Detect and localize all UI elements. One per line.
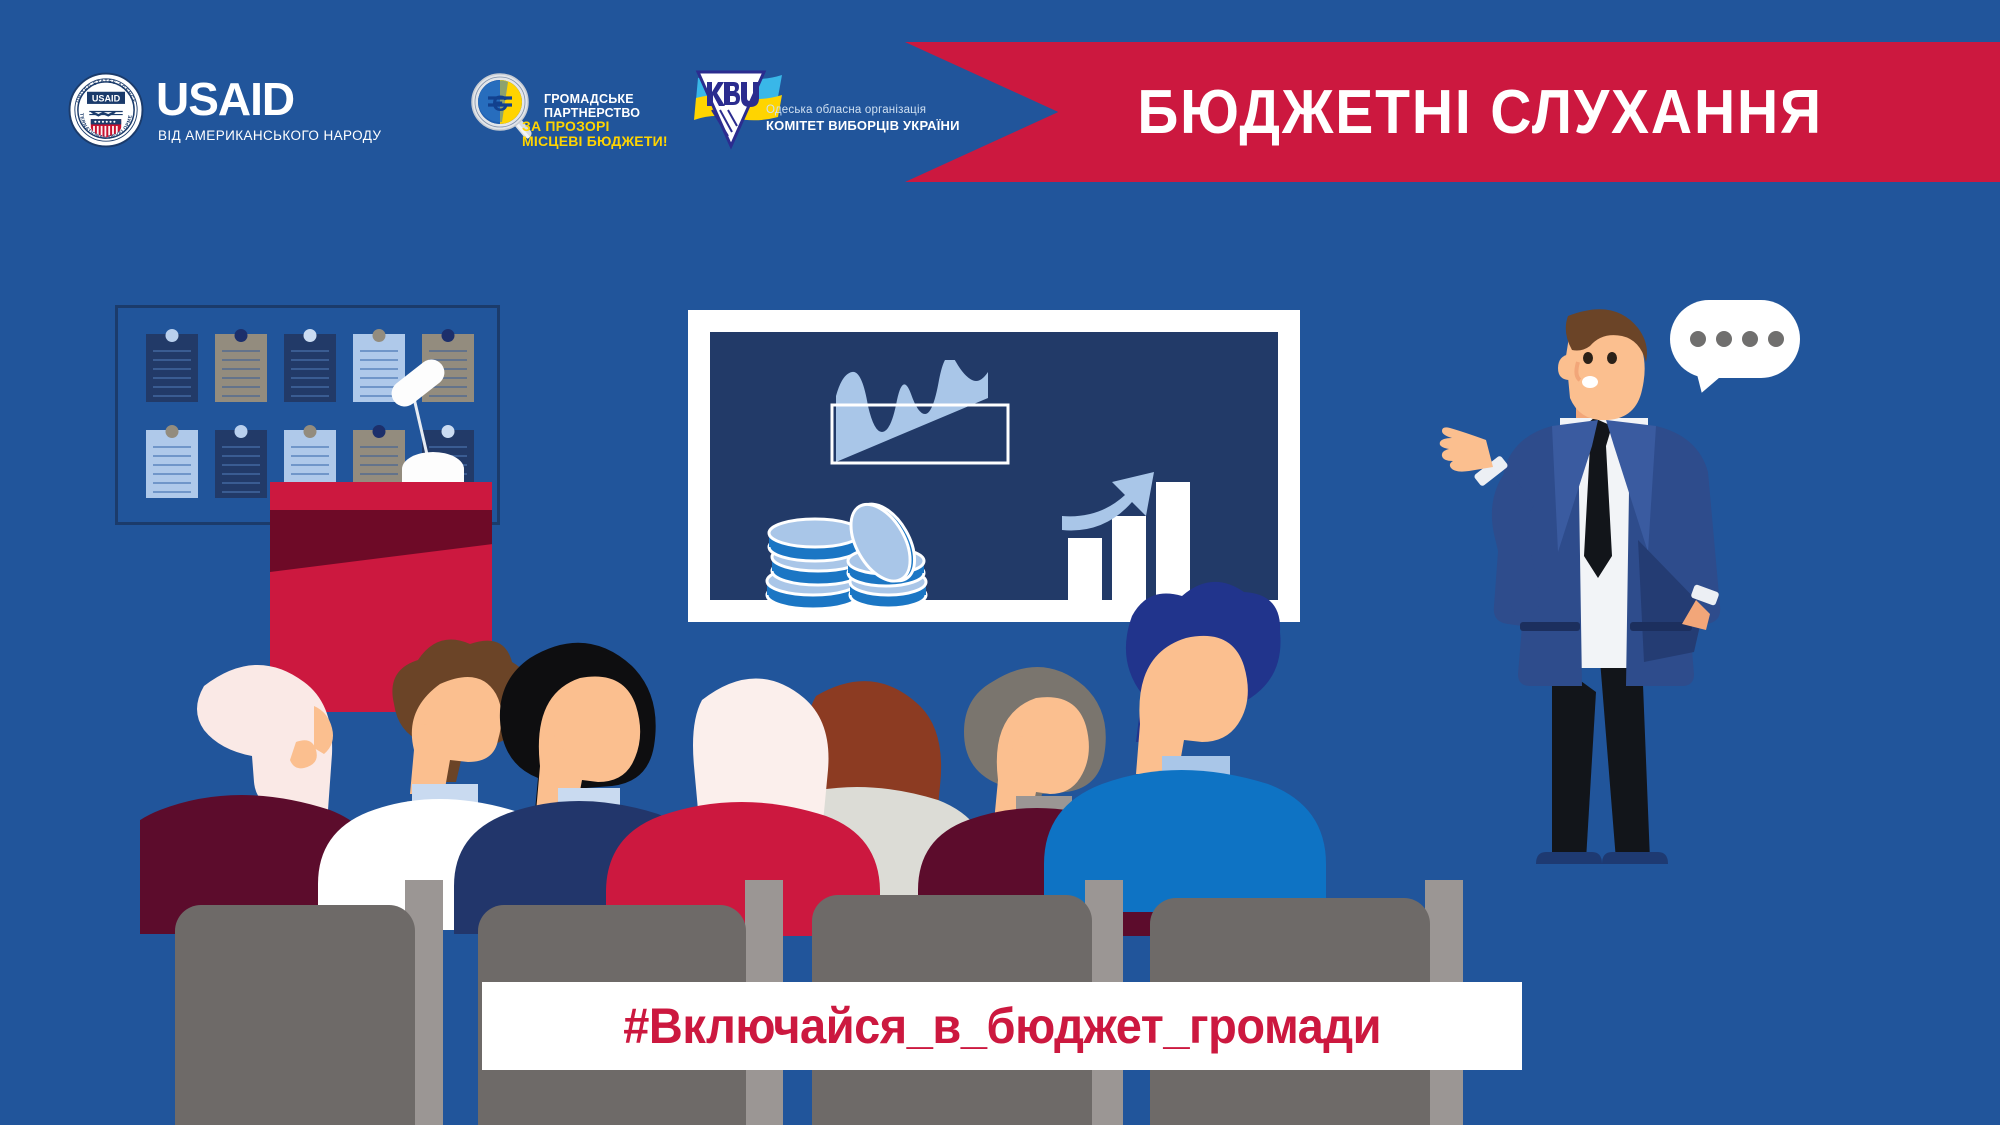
note-pin-icon bbox=[442, 329, 455, 342]
bubble-dot-2 bbox=[1716, 331, 1732, 347]
bubble-dot-4 bbox=[1768, 331, 1784, 347]
board-note bbox=[215, 430, 267, 498]
gp-line1: ГРОМАДСЬКЕ bbox=[544, 92, 634, 106]
note-pin-icon bbox=[373, 329, 386, 342]
podium-top bbox=[270, 482, 492, 510]
note-pin-icon bbox=[166, 425, 179, 438]
note-pin-icon bbox=[166, 329, 179, 342]
presenter-hand-left bbox=[1440, 427, 1493, 471]
note-lines bbox=[222, 446, 260, 500]
presenter-leg-left bbox=[1552, 660, 1596, 860]
note-lines bbox=[291, 350, 329, 404]
note-lines bbox=[153, 350, 191, 404]
presenter-shoe-left bbox=[1536, 852, 1602, 864]
chair-1 bbox=[175, 905, 415, 1125]
note-pin-icon bbox=[235, 425, 248, 438]
gromadske-partnerstvo-logo: Є ГРОМАДСЬКЕ ПАРТНЕРСТВО ЗА ПРОЗОРІ МІСЦ… bbox=[448, 72, 678, 152]
note-pin-icon bbox=[304, 425, 317, 438]
note-lines bbox=[153, 446, 191, 500]
bubble-dot-3 bbox=[1742, 331, 1758, 347]
note-pin-icon bbox=[235, 329, 248, 342]
svg-text:USAID: USAID bbox=[92, 93, 121, 103]
board-note bbox=[215, 334, 267, 402]
area-chart-icon bbox=[828, 360, 1018, 465]
presenter-shoe-right bbox=[1602, 852, 1668, 864]
kvu-region-label: Одеська обласна організація bbox=[766, 104, 926, 116]
page-title: БЮДЖЕТНІ СЛУХАННЯ bbox=[949, 42, 1956, 182]
hashtag-text: #Включайся_в_бюджет_громади bbox=[623, 997, 1381, 1055]
presenter-mouth bbox=[1582, 376, 1598, 388]
bubble-dot-1 bbox=[1690, 331, 1706, 347]
usaid-seal-icon: USAID UNITED STATES AGENCY INT bbox=[68, 72, 144, 148]
presenter-eye-right bbox=[1607, 352, 1617, 364]
note-lines bbox=[222, 350, 260, 404]
usaid-logo: USAID UNITED STATES AGENCY INT bbox=[68, 72, 328, 152]
presenter-leg-right bbox=[1600, 660, 1650, 860]
presenter-ear bbox=[1558, 354, 1570, 380]
speech-bubble bbox=[1670, 300, 1800, 378]
title-banner: БЮДЖЕТНІ СЛУХАННЯ bbox=[905, 42, 2000, 182]
note-pin-icon bbox=[373, 425, 386, 438]
poster-canvas: БЮДЖЕТНІ СЛУХАННЯ USAID bbox=[0, 0, 2000, 1125]
hashtag-banner: #Включайся_в_бюджет_громади bbox=[482, 982, 1522, 1070]
board-note bbox=[146, 430, 198, 498]
presenter-eye-left bbox=[1583, 352, 1593, 364]
gp-title: ГРОМАДСЬКЕ ПАРТНЕРСТВО bbox=[544, 92, 640, 120]
kvu-org-label: КОМІТЕТ ВИБОРЦІВ УКРАЇНИ bbox=[766, 118, 960, 133]
gp-subtitle: ЗА ПРОЗОРІ МІСЦЕВІ БЮДЖЕТИ! bbox=[522, 119, 668, 149]
board-note bbox=[284, 334, 336, 402]
gp-line3: ЗА ПРОЗОРІ bbox=[522, 118, 610, 134]
gp-line4: МІСЦЕВІ БЮДЖЕТИ! bbox=[522, 133, 668, 149]
microphone-base bbox=[402, 452, 464, 486]
note-pin-icon bbox=[442, 425, 455, 438]
note-pin-icon bbox=[304, 329, 317, 342]
usaid-tagline: ВІД АМЕРИКАНСЬКОГО НАРОДУ bbox=[158, 128, 381, 143]
kvu-logo: Одеська обласна організація КОМІТЕТ ВИБО… bbox=[690, 66, 990, 156]
usaid-wordmark: USAID bbox=[156, 76, 294, 122]
presenter-pocket-left bbox=[1520, 622, 1580, 631]
presenter bbox=[1400, 300, 1820, 900]
board-note bbox=[146, 334, 198, 402]
